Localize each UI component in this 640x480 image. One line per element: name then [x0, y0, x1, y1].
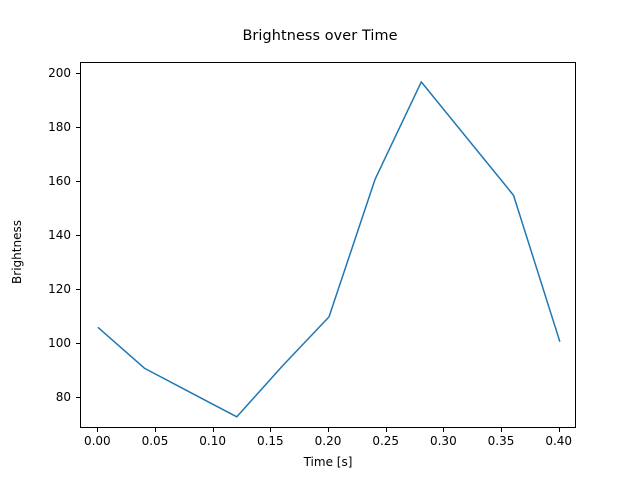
y-tick-label: 200 — [11, 66, 71, 80]
y-axis-label: Brightness — [10, 172, 24, 332]
figure-canvas: Brightness over Time 8010012014016018020… — [0, 0, 640, 480]
x-tick-label: 0.40 — [529, 434, 589, 448]
x-tick-label: 0.10 — [183, 434, 243, 448]
y-tick-label: 100 — [11, 336, 71, 350]
y-tick-label: 180 — [11, 120, 71, 134]
x-tick-label: 0.20 — [298, 434, 358, 448]
plot-axes — [80, 62, 576, 428]
x-tick-label: 0.15 — [240, 434, 300, 448]
brightness-line-series — [98, 82, 559, 417]
x-tick-label: 0.30 — [413, 434, 473, 448]
plot-area — [81, 63, 577, 429]
chart-title: Brightness over Time — [0, 28, 640, 44]
x-tick-label: 0.00 — [67, 434, 127, 448]
x-tick-label: 0.25 — [356, 434, 416, 448]
x-axis-label: Time [s] — [80, 455, 576, 469]
x-tick-label: 0.05 — [125, 434, 185, 448]
x-tick-label: 0.35 — [471, 434, 531, 448]
y-tick-label: 80 — [11, 390, 71, 404]
